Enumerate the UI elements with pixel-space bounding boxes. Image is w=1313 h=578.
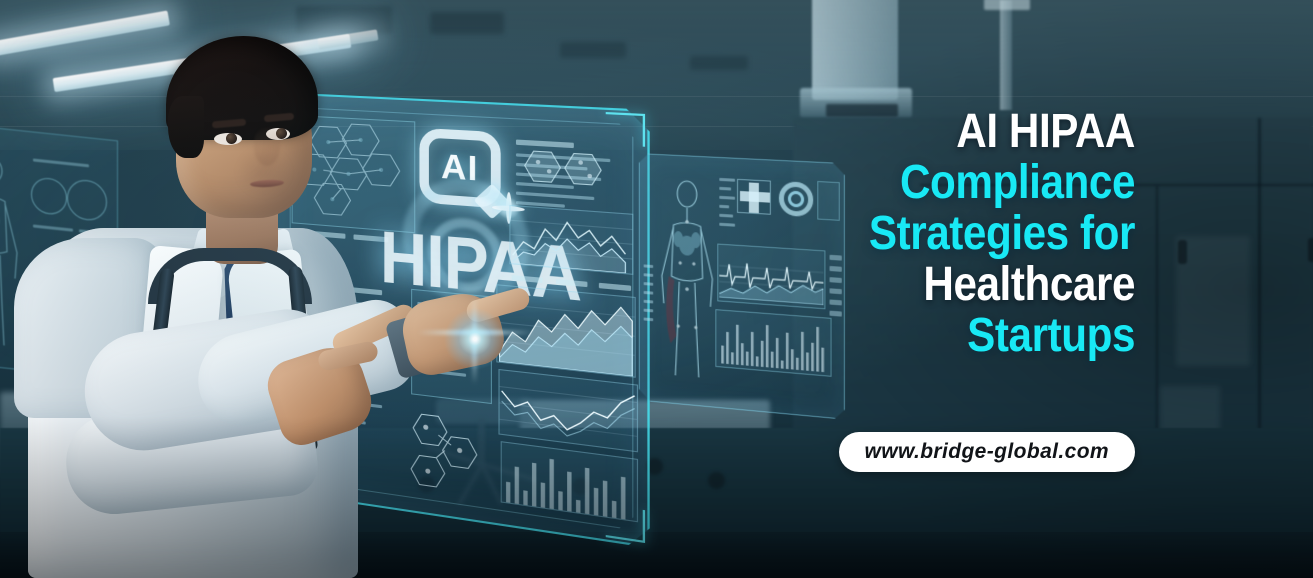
anatomical-body-scan-icon [657, 177, 717, 385]
ceiling-equipment-arm [812, 0, 898, 100]
hair-sideburn [168, 96, 204, 158]
left-index-column [644, 264, 656, 327]
headline-line-4: Healthcare [783, 259, 1135, 310]
ceiling-pole [1000, 0, 1012, 110]
doctor-figure [0, 0, 470, 578]
nose [254, 128, 280, 166]
website-url-label: www.bridge-global.com [865, 440, 1109, 464]
headline-line-1: AI HIPAA [783, 106, 1135, 157]
website-url-badge[interactable]: www.bridge-global.com [839, 432, 1135, 472]
headline-line-3: Strategies for [783, 208, 1135, 259]
corner-bracket-icon [606, 112, 645, 147]
cabinet-highlight [1176, 236, 1250, 366]
headline-line-2: Compliance [783, 157, 1135, 208]
banner-root: AI HIPAA [0, 0, 1313, 578]
data-readout-list [719, 178, 735, 233]
ceiling-panel [560, 42, 626, 58]
line-chart [509, 205, 633, 275]
cabinet-handle [1308, 238, 1313, 262]
ceiling-pole-cap [984, 0, 1030, 10]
touch-flare-vertical [472, 296, 477, 384]
circular-node-diagram-icon [523, 146, 618, 208]
headline-line-5: Startups [783, 310, 1135, 361]
office-chair-wheel [708, 472, 725, 489]
iris-left [226, 133, 237, 144]
cabinet-handle [1178, 240, 1187, 264]
headline-block: AI HIPAA Compliance Strategies for Healt… [735, 106, 1135, 361]
ceiling-panel [690, 56, 748, 70]
